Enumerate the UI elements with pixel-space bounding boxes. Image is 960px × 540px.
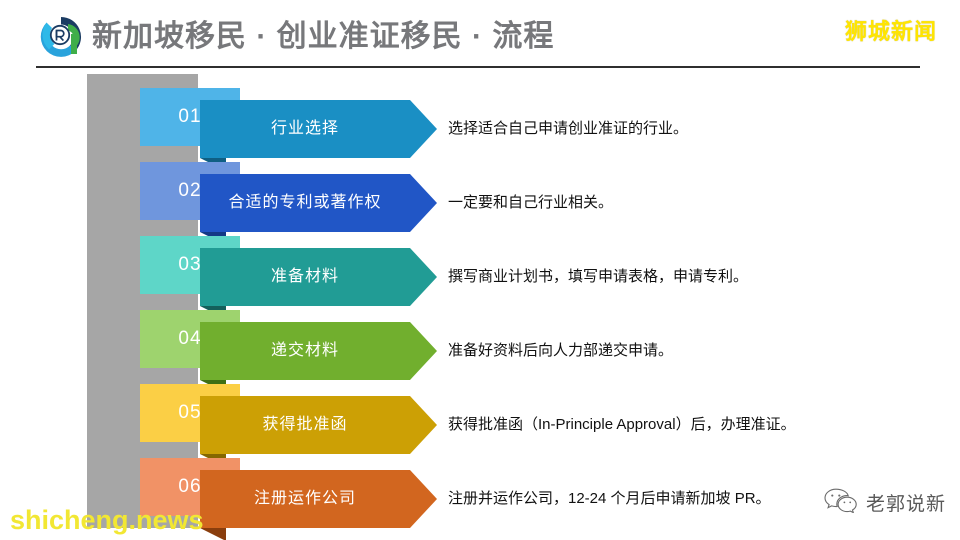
- process-step-row: 04递交材料准备好资料后向人力部递交申请。: [0, 310, 960, 384]
- process-step-row: 02合适的专利或著作权一定要和自己行业相关。: [0, 162, 960, 236]
- step-description: 准备好资料后向人力部递交申请。: [448, 322, 673, 380]
- brand-badge: 狮城新闻: [845, 14, 937, 46]
- step-arrow[interactable]: 行业选择: [200, 100, 437, 158]
- step-arrow[interactable]: 合适的专利或著作权: [200, 174, 437, 232]
- watermark-account: 老郭说新: [824, 487, 946, 518]
- page-title: 新加坡移民 · 创业准证移民 · 流程: [92, 17, 554, 57]
- step-description: 注册并运作公司，12-24 个月后申请新加坡 PR。: [448, 470, 771, 528]
- step-arrow-shape: [200, 248, 437, 306]
- process-step-row: 05获得批准函获得批准函（In-Principle Approval）后，办理准…: [0, 384, 960, 458]
- watermark-account-label: 老郭说新: [866, 489, 946, 516]
- watermark-site: shicheng.news: [10, 505, 204, 536]
- step-arrow-fold: [200, 528, 226, 540]
- slide-header: 新加坡移民 · 创业准证移民 · 流程 狮城新闻: [0, 0, 960, 74]
- step-arrow-shape: [200, 396, 437, 454]
- step-description: 撰写商业计划书，填写申请表格，申请专利。: [448, 248, 748, 306]
- step-description: 选择适合自己申请创业准证的行业。: [448, 100, 688, 158]
- step-arrow-shape: [200, 470, 437, 528]
- process-step-row: 01行业选择选择适合自己申请创业准证的行业。: [0, 88, 960, 162]
- step-arrow[interactable]: 递交材料: [200, 322, 437, 380]
- step-arrow[interactable]: 注册运作公司: [200, 470, 437, 528]
- process-step-row: 03准备材料撰写商业计划书，填写申请表格，申请专利。: [0, 236, 960, 310]
- step-arrow-shape: [200, 174, 437, 232]
- wechat-icon: [824, 487, 858, 518]
- step-description: 一定要和自己行业相关。: [448, 174, 613, 232]
- step-arrow[interactable]: 获得批准函: [200, 396, 437, 454]
- step-arrow-shape: [200, 100, 437, 158]
- step-description: 获得批准函（In-Principle Approval）后，办理准证。: [448, 396, 796, 454]
- title-underline: [36, 66, 920, 68]
- process-flow-diagram: 01行业选择选择适合自己申请创业准证的行业。02合适的专利或著作权一定要和自己行…: [0, 74, 960, 540]
- step-arrow[interactable]: 准备材料: [200, 248, 437, 306]
- step-arrow-shape: [200, 322, 437, 380]
- circular-brand-logo-icon: [38, 14, 84, 60]
- slide-canvas: 新加坡移民 · 创业准证移民 · 流程 狮城新闻 01行业选择选择适合自己申请创…: [0, 0, 960, 540]
